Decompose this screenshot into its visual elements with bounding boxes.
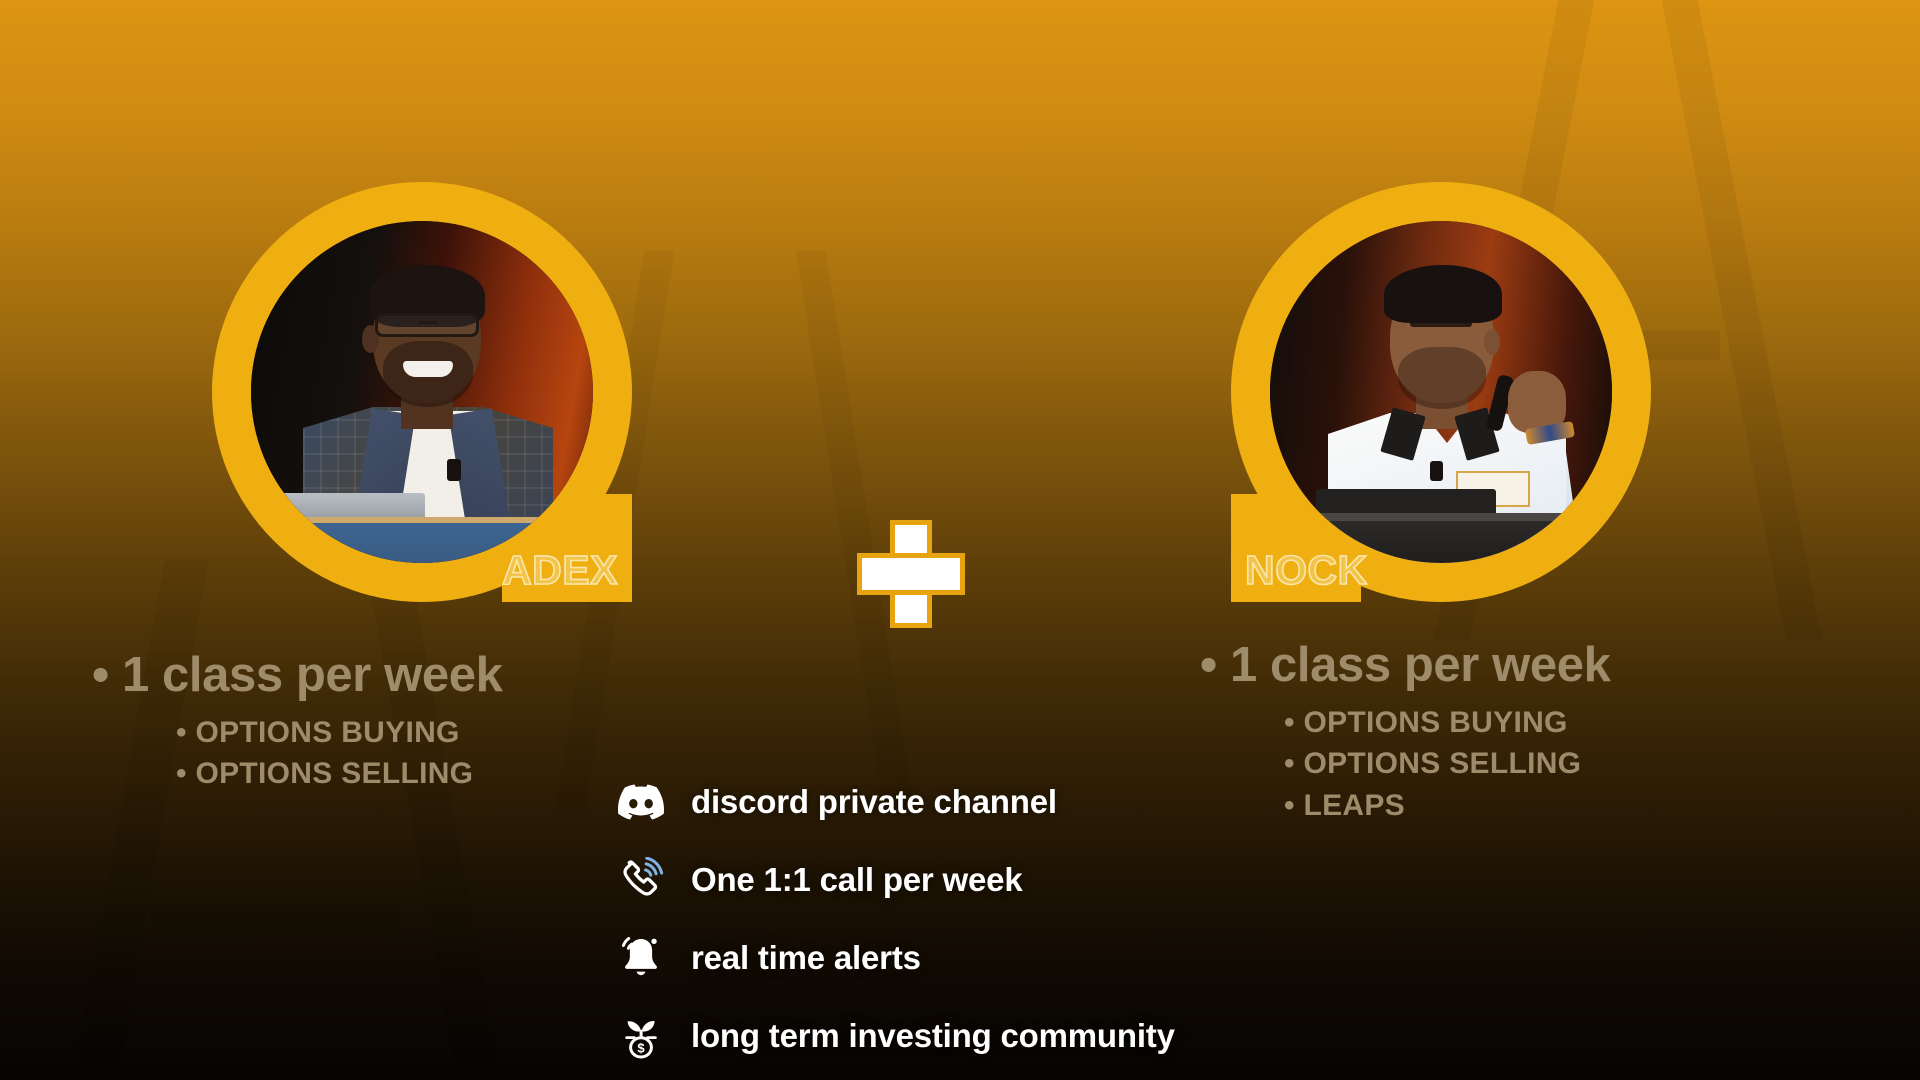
feature-row-alerts: real time alerts	[615, 932, 1175, 984]
feature-row-call: One 1:1 call per week	[615, 854, 1175, 906]
main-bullet-adex: • 1 class per week	[92, 650, 502, 702]
bullet-marker: •	[92, 650, 109, 702]
slide-canvas: ADEX	[0, 0, 1920, 1080]
svg-text:$: $	[637, 1040, 645, 1055]
main-bullet-nock: • 1 class per week	[1200, 640, 1610, 692]
coach-name-tag: NOCK	[1245, 547, 1368, 594]
watermark-stroke	[365, 560, 518, 1080]
feature-row-community: $ long term investing community	[615, 1010, 1175, 1062]
coach-benefits-nock: • 1 class per week • OPTIONS BUYING • OP…	[1200, 640, 1610, 826]
smile	[403, 361, 453, 377]
coach-card-adex[interactable]: ADEX	[212, 182, 632, 602]
eyeglasses-icon	[375, 313, 479, 337]
eyeglasses-bridge	[419, 321, 437, 324]
sub-bullet-label: OPTIONS BUYING	[195, 716, 459, 749]
laptop	[265, 493, 425, 519]
bullet-marker: •	[176, 712, 187, 753]
coach-benefits-adex: • 1 class per week • OPTIONS BUYING • OP…	[92, 650, 502, 795]
laptop	[1316, 489, 1496, 515]
list-item: • OPTIONS SELLING	[176, 753, 502, 794]
feature-row-discord: discord private channel	[615, 776, 1175, 828]
lapel-microphone	[447, 459, 461, 481]
lapel-microphone	[1430, 461, 1443, 481]
coach-photo-ring	[212, 182, 632, 602]
bullet-marker: •	[1284, 743, 1295, 784]
bell-icon	[615, 932, 667, 984]
coach-portrait-adex	[251, 221, 593, 563]
feature-label: One 1:1 call per week	[691, 861, 1022, 899]
list-item: • OPTIONS BUYING	[1284, 702, 1610, 743]
hair	[1384, 265, 1502, 323]
beard	[1398, 347, 1486, 409]
list-item: • LEAPS	[1284, 785, 1610, 826]
bullet-marker: •	[1200, 640, 1217, 692]
coach-name-tag: ADEX	[502, 547, 618, 594]
bullet-marker: •	[1284, 702, 1295, 743]
sub-bullet-list: • OPTIONS BUYING • OPTIONS SELLING • LEA…	[1284, 702, 1610, 826]
watermark-stroke	[150, 900, 400, 934]
ear	[1484, 329, 1500, 355]
list-item: • OPTIONS BUYING	[176, 712, 502, 753]
coach-portrait-nock	[1270, 221, 1612, 563]
sub-bullet-label: OPTIONS BUYING	[1303, 706, 1567, 739]
watermark-stroke	[1654, 0, 1822, 640]
bullet-marker: •	[176, 753, 187, 794]
main-bullet-label: 1 class per week	[122, 648, 502, 702]
coach-photo-ring	[1231, 182, 1651, 602]
main-bullet-label: 1 class per week	[1230, 638, 1610, 692]
plus-icon	[857, 520, 965, 628]
features-list: discord private channel One 1:1 call per…	[615, 776, 1175, 1062]
money-plant-icon: $	[615, 1010, 667, 1062]
sub-bullet-label: OPTIONS SELLING	[195, 757, 473, 790]
sub-bullet-label: OPTIONS SELLING	[1303, 747, 1581, 780]
feature-label: discord private channel	[691, 783, 1057, 821]
phone-call-icon	[615, 854, 667, 906]
plus-center	[895, 558, 927, 590]
feature-label: long term investing community	[691, 1017, 1175, 1055]
feature-label: real time alerts	[691, 939, 921, 977]
list-item: • OPTIONS SELLING	[1284, 743, 1610, 784]
coach-card-nock[interactable]: NOCK	[1231, 182, 1651, 602]
bullet-marker: •	[1284, 785, 1295, 826]
sub-bullet-label: LEAPS	[1303, 789, 1405, 822]
sub-bullet-list: • OPTIONS BUYING • OPTIONS SELLING	[176, 712, 502, 795]
watermark-stroke	[55, 560, 208, 1080]
discord-icon	[615, 776, 667, 828]
